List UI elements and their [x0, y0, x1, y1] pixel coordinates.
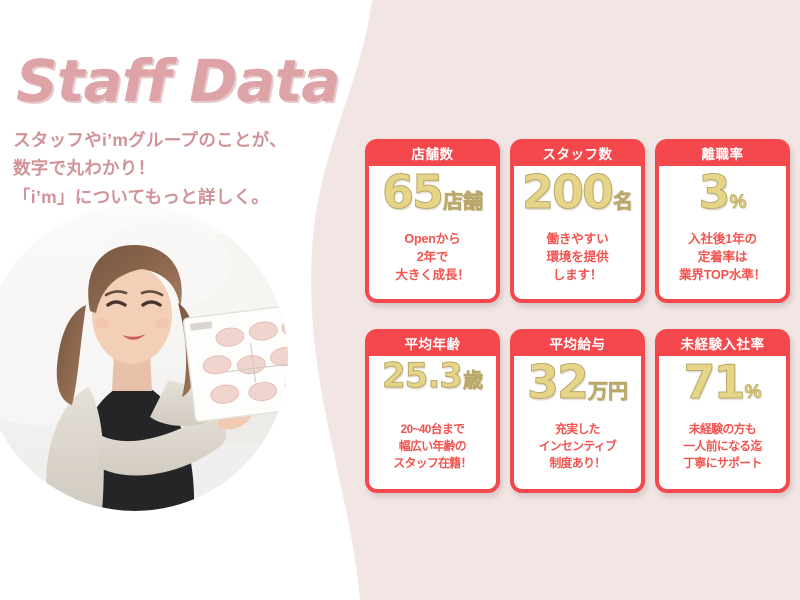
stat-card: 未経験入社率 71 % 未経験の方も 一人前になる迄 丁寧にサポート: [655, 329, 790, 493]
card-figure: 25.3 歳: [369, 359, 496, 419]
page-subtitle: スタッフやi’mグループのことが、 数字で丸わかり！ 「i’m」についてもっと詳…: [13, 126, 287, 211]
card-unit: 万円: [588, 382, 628, 402]
card-figure: 200 名: [514, 169, 641, 229]
card-number: 200: [522, 169, 612, 215]
stats-card-grid: 店舗数 65 店舗 Openから 2年で 大きく成長！ スタッフ数 200 名 …: [365, 139, 790, 493]
card-unit: %: [745, 383, 762, 402]
staff-data-infographic: Staff Data スタッフやi’mグループのことが、 数字で丸わかり！ 「i…: [0, 0, 800, 600]
card-number: 3: [699, 169, 729, 215]
card-description: 充実した インセンティブ 制度あり！: [539, 421, 617, 471]
staff-photo: [0, 205, 288, 511]
card-unit: %: [730, 193, 747, 212]
stat-card: スタッフ数 200 名 働きやすい 環境を提供 します！: [510, 139, 645, 303]
card-description: 未経験の方も 一人前になる迄 丁寧にサポート: [683, 421, 761, 471]
card-header-label: 平均年齢: [365, 329, 500, 356]
card-body: 71 % 未経験の方も 一人前になる迄 丁寧にサポート: [659, 356, 786, 489]
card-number: 71: [684, 359, 744, 405]
left-column: Staff Data スタッフやi’mグループのことが、 数字で丸わかり！ 「i…: [0, 0, 360, 600]
stat-card: 店舗数 65 店舗 Openから 2年で 大きく成長！: [365, 139, 500, 303]
card-unit: 名: [613, 192, 633, 212]
card-figure: 3 %: [659, 169, 786, 229]
card-body: 3 % 入社後1年の 定着率は 業界TOP水準！: [659, 166, 786, 299]
card-header-label: 未経験入社率: [655, 329, 790, 356]
page-title: Staff Data: [16, 52, 339, 110]
card-description: 働きやすい 環境を提供 します！: [547, 231, 609, 285]
card-unit: 歳: [463, 371, 483, 391]
card-description: 入社後1年の 定着率は 業界TOP水準！: [679, 231, 766, 285]
card-figure: 71 %: [659, 359, 786, 419]
card-unit: 店舗: [443, 192, 483, 212]
stat-card: 離職率 3 % 入社後1年の 定着率は 業界TOP水準！: [655, 139, 790, 303]
card-header-label: 店舗数: [365, 139, 500, 166]
card-description: 20~40台まで 幅広い年齢の スタッフ在籍！: [393, 421, 471, 471]
card-body: 25.3 歳 20~40台まで 幅広い年齢の スタッフ在籍！: [369, 356, 496, 489]
card-body: 200 名 働きやすい 環境を提供 します！: [514, 166, 641, 299]
stat-card: 平均給与 32 万円 充実した インセンティブ 制度あり！: [510, 329, 645, 493]
card-header-label: 平均給与: [510, 329, 645, 356]
card-number: 65: [382, 169, 442, 215]
card-number: 32: [527, 359, 587, 405]
card-description: Openから 2年で 大きく成長！: [395, 231, 469, 285]
card-header-label: スタッフ数: [510, 139, 645, 166]
card-number: 25.3: [382, 359, 462, 393]
card-body: 32 万円 充実した インセンティブ 制度あり！: [514, 356, 641, 489]
card-body: 65 店舗 Openから 2年で 大きく成長！: [369, 166, 496, 299]
stat-card: 平均年齢 25.3 歳 20~40台まで 幅広い年齢の スタッフ在籍！: [365, 329, 500, 493]
card-header-label: 離職率: [655, 139, 790, 166]
card-figure: 32 万円: [514, 359, 641, 419]
card-figure: 65 店舗: [369, 169, 496, 229]
